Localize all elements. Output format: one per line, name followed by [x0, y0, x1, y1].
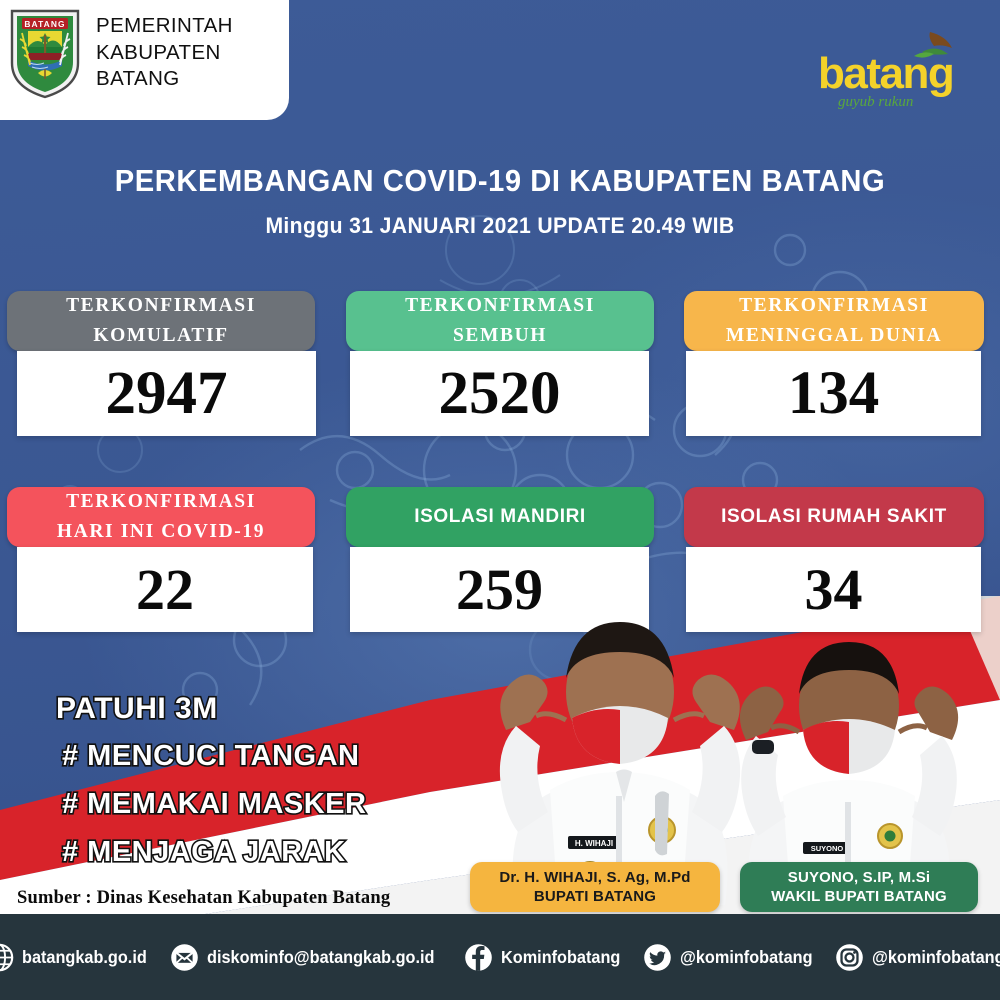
contact-label: diskominfo@batangkab.go.id	[207, 947, 434, 968]
stat-card-header: TERKONFIRMASI HARI INI COVID-19	[7, 487, 315, 547]
stat-value: 2520	[350, 351, 649, 436]
government-name: PEMERINTAH KABUPATEN BATANG	[96, 13, 233, 93]
contact-email[interactable]: diskominfo@batangkab.go.id	[170, 943, 452, 972]
gov-line-1: PEMERINTAH	[96, 13, 233, 40]
stat-value: 22	[17, 547, 313, 632]
contact-instagram[interactable]: @kominfobatang	[835, 943, 1000, 972]
official-role: WAKIL BUPATI BATANG	[771, 887, 947, 906]
contact-label: @kominfobatang	[872, 947, 1000, 968]
stat-value: 134	[686, 351, 981, 436]
official-badge-bupati: Dr. H. WIHAJI, S. Ag, M.Pd BUPATI BATANG	[470, 862, 720, 912]
stat-card-header: TERKONFIRMASI SEMBUH	[346, 291, 654, 351]
stat-label-line2: KOMULATIF	[93, 321, 228, 351]
stat-card-terkonfirmasi-sembuh: TERKONFIRMASI SEMBUH 2520	[346, 291, 654, 436]
stat-card-header: TERKONFIRMASI MENINGGAL DUNIA	[684, 291, 984, 351]
contact-website[interactable]: batangkab.go.id	[0, 943, 157, 972]
stat-label-line1: TERKONFIRMASI	[739, 291, 929, 321]
stat-card-terkonfirmasi-meninggal-dunia: TERKONFIRMASI MENINGGAL DUNIA 134	[684, 291, 984, 436]
globe-icon	[0, 943, 14, 972]
twitter-icon	[643, 943, 672, 972]
stat-label-line2: HARI INI COVID-19	[57, 517, 265, 547]
stat-label-line1: TERKONFIRMASI	[66, 291, 256, 321]
official-name: SUYONO, S.IP, M.Si	[788, 868, 931, 887]
stat-card-header: ISOLASI MANDIRI	[346, 487, 654, 547]
facebook-icon	[464, 943, 493, 972]
protocol-title: PATUHI 3M	[56, 692, 218, 726]
contact-twitter[interactable]: @kominfobatang	[643, 943, 822, 972]
source-text: Sumber : Dinas Kesehatan Kabupaten Batan…	[17, 888, 390, 909]
stat-card-header: ISOLASI RUMAH SAKIT	[684, 487, 984, 547]
envelope-icon	[170, 943, 199, 972]
stat-card-terkonfirmasi-komulatif: TERKONFIRMASI KOMULATIF 2947	[8, 291, 316, 436]
page-subtitle: Minggu 31 JANUARI 2021 UPDATE 20.49 WIB	[30, 213, 970, 239]
stat-card-header: TERKONFIRMASI KOMULATIF	[7, 291, 315, 351]
stat-label-line2: SEMBUH	[453, 321, 547, 351]
stat-card-terkonfirmasi-hari-ini: TERKONFIRMASI HARI INI COVID-19 22	[8, 487, 316, 632]
protocol-item-memakai-masker: # MEMAKAI MASKER	[62, 788, 366, 821]
stat-label-line1: ISOLASI RUMAH SAKIT	[721, 506, 947, 528]
uniform-name-tag-wakil: SUYONO	[811, 844, 844, 853]
contact-label: batangkab.go.id	[22, 947, 147, 968]
official-name: Dr. H. WIHAJI, S. Ag, M.Pd	[499, 868, 690, 887]
gov-line-3: BATANG	[96, 66, 233, 93]
contact-facebook[interactable]: Kominfobatang	[464, 943, 629, 972]
protocol-item-menjaga-jarak: # MENJAGA JARAK	[62, 836, 346, 869]
stat-label-line1: TERKONFIRMASI	[66, 487, 256, 517]
official-badge-wakil-bupati: SUYONO, S.IP, M.Si WAKIL BUPATI BATANG	[740, 862, 978, 912]
officials-portraits: H. WIHAJI SUYONO	[420, 600, 1000, 905]
stat-value: 2947	[17, 351, 316, 436]
batang-coat-of-arms-icon: BATANG	[8, 7, 82, 99]
contact-label: @kominfobatang	[680, 947, 813, 968]
protocol-item-mencuci-tangan: # MENCUCI TANGAN	[62, 740, 359, 773]
stat-label-line1: ISOLASI MANDIRI	[414, 506, 586, 528]
contact-label: Kominfobatang	[501, 947, 620, 968]
batang-logo-tagline: guyub rukun	[838, 94, 913, 110]
batang-logo-text: batang	[818, 49, 953, 98]
batang-brand-logo: batang guyub rukun	[810, 22, 982, 114]
instagram-icon	[835, 943, 864, 972]
stat-label-line1: TERKONFIRMASI	[405, 291, 595, 321]
stat-label-line2: MENINGGAL DUNIA	[726, 321, 942, 351]
official-role: BUPATI BATANG	[534, 887, 656, 906]
svg-text:BATANG: BATANG	[24, 19, 65, 29]
uniform-name-tag-bupati: H. WIHAJI	[575, 839, 613, 848]
gov-line-2: KABUPATEN	[96, 40, 233, 67]
footer-contact-bar: batangkab.go.id diskominfo@batangkab.go.…	[0, 914, 1000, 1000]
page-title: PERKEMBANGAN COVID-19 DI KABUPATEN BATAN…	[30, 163, 970, 199]
government-logo-card: BATANG PEMERINTAH KABUPATEN BATANG	[0, 0, 289, 120]
